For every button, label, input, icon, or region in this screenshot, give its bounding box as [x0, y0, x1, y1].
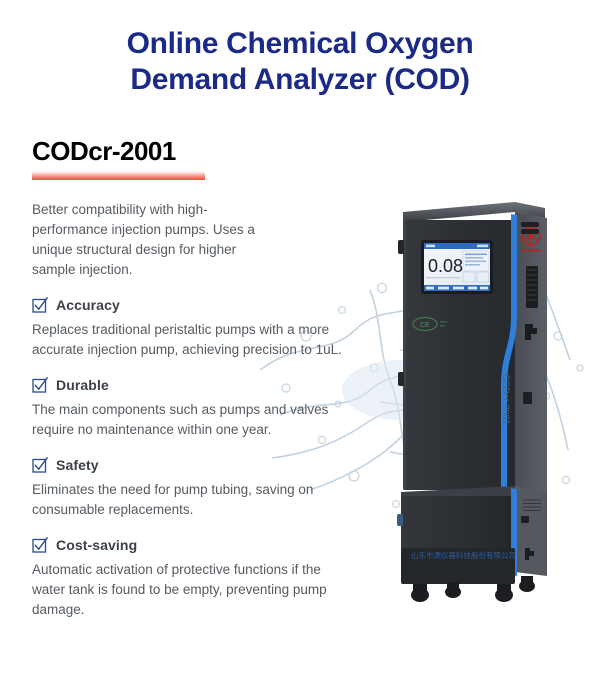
- feature-title: Durable: [56, 377, 109, 393]
- device-hinge: [398, 240, 404, 254]
- feature-list: Better compatibility with high-performan…: [32, 200, 347, 620]
- checkbox-check-icon: [32, 297, 48, 313]
- feature-description: Eliminates the need for pump tubing, sav…: [32, 480, 332, 520]
- page-title-line-2: Demand Analyzer (COD): [0, 62, 600, 98]
- device-model-label: CODcr-2001: [501, 374, 511, 425]
- model-heading: CODcr-2001: [32, 136, 205, 180]
- cabinet-hinge: [397, 514, 403, 526]
- feature-description: The main components such as pumps and va…: [32, 400, 342, 440]
- checkbox-check-icon: [32, 537, 48, 553]
- feature-item-accuracy: Accuracy Replaces traditional peristalti…: [32, 297, 347, 360]
- intro-paragraph: Better compatibility with high-performan…: [32, 200, 277, 280]
- model-name: CODcr-2001: [32, 136, 205, 166]
- feature-header: Accuracy: [32, 297, 347, 313]
- feature-item-cost-saving: Cost-saving Automatic activation of prot…: [32, 537, 347, 620]
- feature-title: Cost-saving: [56, 537, 137, 553]
- product-image: 0.08: [395, 196, 570, 626]
- device-display: 0.08: [421, 240, 493, 294]
- display-value: 0.08: [428, 256, 463, 276]
- feature-header: Durable: [32, 377, 347, 393]
- device-side-panel: [515, 212, 547, 494]
- page-title-line-1: Online Chemical Oxygen: [0, 26, 600, 62]
- feature-header: Safety: [32, 457, 347, 473]
- device-hinge: [398, 372, 404, 386]
- feature-description: Replaces traditional peristaltic pumps w…: [32, 320, 342, 360]
- manufacturer-text: 山东市源仪器科技股份有限公司: [411, 550, 516, 560]
- feature-description: Automatic activation of protective funct…: [32, 560, 332, 620]
- feature-item-safety: Safety Eliminates the need for pump tubi…: [32, 457, 347, 520]
- checkbox-check-icon: [32, 457, 48, 473]
- feature-item-durable: Durable The main components such as pump…: [32, 377, 347, 440]
- feature-header: Cost-saving: [32, 537, 347, 553]
- feature-title: Accuracy: [56, 297, 120, 313]
- certification-badge-label: CE: [420, 322, 430, 329]
- feature-title: Safety: [56, 457, 99, 473]
- checkbox-check-icon: [32, 377, 48, 393]
- model-underline: [32, 170, 205, 180]
- product-datasheet-page: Online Chemical Oxygen Demand Analyzer (…: [0, 0, 600, 687]
- page-title: Online Chemical Oxygen Demand Analyzer (…: [0, 26, 600, 98]
